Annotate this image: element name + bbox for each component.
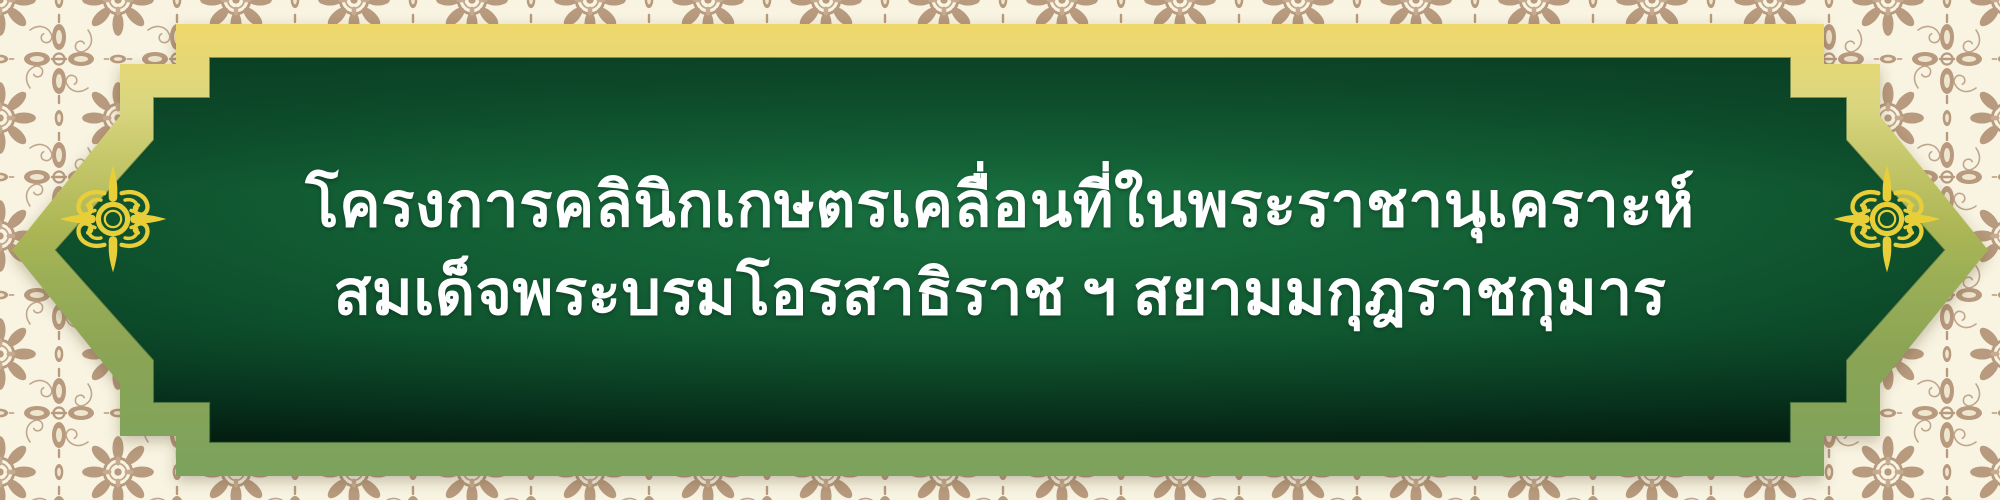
banner-root: โครงการคลินิกเกษตรเคลื่อนที่ในพระราชานุเ…: [0, 0, 2000, 500]
plaque-green-shading: [56, 58, 1944, 442]
banner-plaque: [0, 0, 2000, 500]
